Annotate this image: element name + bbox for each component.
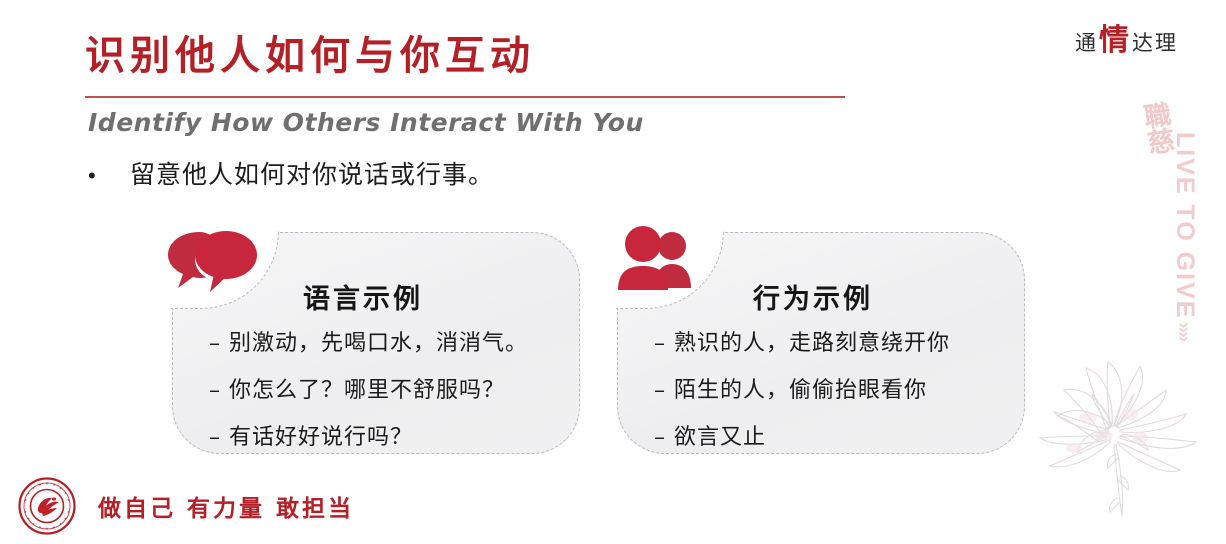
list-item: –你怎么了？哪里不舒服吗？ xyxy=(209,372,561,404)
people-icon-svg xyxy=(610,224,696,296)
chevron-right-icon: »» xyxy=(1172,322,1195,340)
list-item: –有话好好说行吗？ xyxy=(209,419,561,451)
vertical-watermark: 職慈 LIVE TO GIVE »» xyxy=(1144,104,1204,364)
bullet-text: 留意他人如何对你说话或行事。 xyxy=(130,155,494,191)
lotus-flower-watermark xyxy=(1000,336,1226,536)
slide-canvas: 识别他人如何与你互动 Identify How Others Interact … xyxy=(0,0,1226,544)
list-item: –陌生的人，偷偷抬眼看你 xyxy=(654,372,1006,404)
people-icon xyxy=(610,224,696,296)
list-item-text: 有话好好说行吗？ xyxy=(229,425,413,450)
brand-phrase-part2: 达理 xyxy=(1132,27,1178,57)
speech-bubbles-icon xyxy=(166,224,262,300)
brand-phrase: 通情达理 xyxy=(1075,26,1178,57)
person-head-back xyxy=(658,232,686,260)
card-list: –别激动，先喝口水，消消气。 –你怎么了？哪里不舒服吗？ –有话好好说行吗？ xyxy=(209,325,561,466)
card-title: 行为示例 xyxy=(753,277,873,316)
speech-bubble-front xyxy=(195,231,257,279)
list-item: –熟识的人，走路刻意绕开你 xyxy=(654,325,1006,357)
page-title: 识别他人如何与你互动 xyxy=(85,34,875,79)
list-item-text: 熟识的人，走路刻意绕开你 xyxy=(674,331,950,356)
card-list: –熟识的人，走路刻意绕开你 –陌生的人，偷偷抬眼看你 –欲言又止 xyxy=(654,325,1006,466)
list-dash: – xyxy=(209,425,229,450)
title-divider xyxy=(85,96,845,98)
brand-phrase-highlight: 情 xyxy=(1099,26,1131,56)
brand-phrase-part1: 通 xyxy=(1075,27,1098,57)
list-item-text: 别激动，先喝口水，消消气。 xyxy=(229,331,528,356)
list-dash: – xyxy=(654,331,674,356)
list-item: –别激动，先喝口水，消消气。 xyxy=(209,325,561,357)
school-seal-logo xyxy=(18,477,76,535)
watermark-english: LIVE TO GIVE xyxy=(1170,132,1199,319)
title-block: 识别他人如何与你互动 xyxy=(85,34,875,79)
page-subtitle: Identify How Others Interact With You xyxy=(88,108,644,137)
card-title: 语言示例 xyxy=(303,277,423,316)
bullet-marker: • xyxy=(88,165,130,187)
list-dash: – xyxy=(654,378,674,403)
list-item-text: 欲言又止 xyxy=(674,425,766,450)
speech-bubble-tail xyxy=(210,274,227,292)
speech-bubbles-icon-svg xyxy=(166,224,262,300)
footer-slogan: 做自己 有力量 敢担当 xyxy=(98,489,354,523)
bullet-row: • 留意他人如何对你说话或行事。 xyxy=(88,155,494,191)
list-dash: – xyxy=(209,331,229,356)
list-item-text: 你怎么了？哪里不舒服吗？ xyxy=(229,378,505,403)
person-head-front xyxy=(625,226,661,262)
list-dash: – xyxy=(209,378,229,403)
list-item: –欲言又止 xyxy=(654,419,1006,451)
list-item-text: 陌生的人，偷偷抬眼看你 xyxy=(674,378,927,403)
footer: 做自己 有力量 敢担当 xyxy=(18,474,354,538)
list-dash: – xyxy=(654,425,674,450)
